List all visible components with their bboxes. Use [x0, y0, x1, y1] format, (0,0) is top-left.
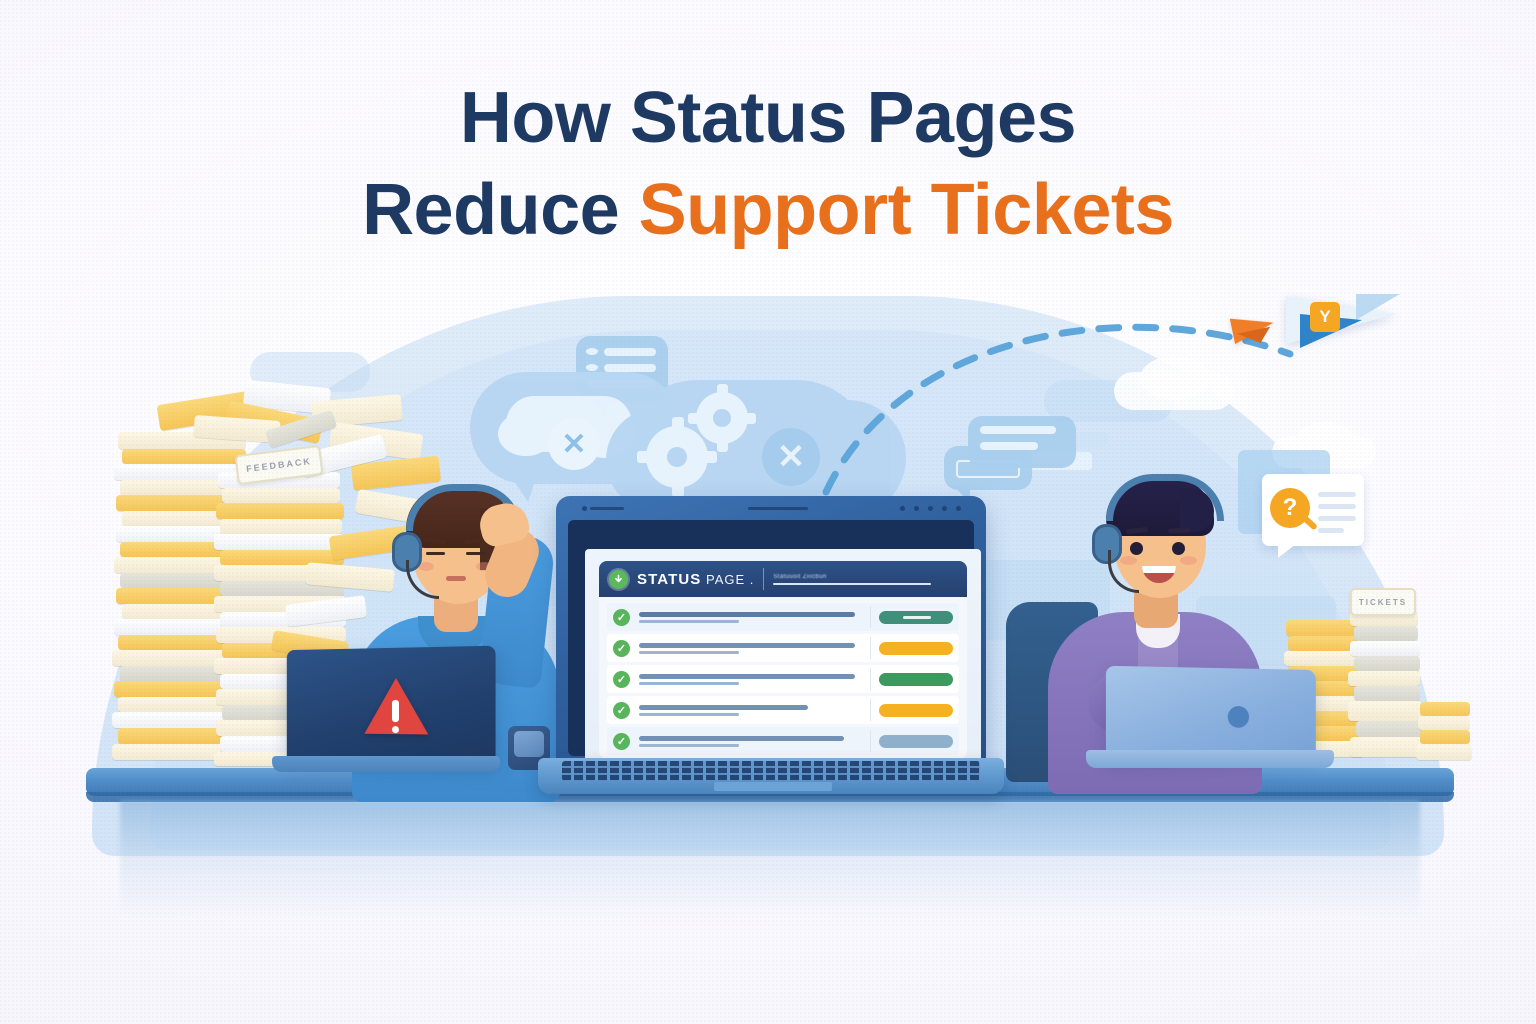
headset-mic-icon — [1108, 550, 1139, 593]
title-line-1: How Status Pages — [0, 72, 1536, 164]
title-line-2: Reduce Support Tickets — [0, 164, 1536, 256]
row-divider — [870, 730, 871, 752]
magnifier-handle — [1302, 515, 1318, 530]
gear-icon — [646, 426, 708, 488]
keyboard-rows — [562, 761, 980, 781]
status-page-rows: ✓ ✓ — [599, 597, 967, 759]
left-laptop-base — [272, 756, 500, 772]
meta-underline — [773, 583, 931, 585]
table-row[interactable]: ✓ — [607, 603, 959, 631]
laptop-screen: STATUS PAGE . Statuuoit Ziiicbun ✓ — [585, 549, 981, 775]
faq-line — [1318, 504, 1356, 509]
faq-line — [1318, 516, 1356, 521]
agent-eye-closed — [466, 552, 485, 555]
status-badge — [879, 611, 953, 624]
plane-fin — [1356, 294, 1400, 320]
row-text — [639, 736, 862, 747]
row-divider — [870, 606, 871, 628]
brand-light: PAGE . — [701, 572, 754, 587]
warning-bang — [392, 700, 399, 722]
main-laptop: STATUS PAGE . Statuuoit Ziiicbun ✓ — [556, 496, 986, 796]
x-mark-icon: ✕ — [762, 428, 820, 486]
table-row[interactable]: ✓ — [607, 727, 959, 755]
status-badge — [879, 735, 953, 748]
status-page-brand: STATUS PAGE . — [637, 571, 754, 588]
bubble-bullet — [586, 348, 598, 355]
warning-dot — [392, 726, 399, 733]
left-laptop-screen — [287, 646, 496, 763]
row-text — [639, 705, 862, 716]
status-page-header: STATUS PAGE . Statuuoit Ziiicbun — [599, 561, 967, 597]
row-text — [639, 643, 862, 654]
headset-band-icon — [1106, 474, 1224, 521]
status-badge — [879, 704, 953, 717]
row-divider — [870, 699, 871, 721]
header-divider — [763, 568, 764, 590]
agent-teeth — [1142, 566, 1176, 573]
laptop-bezel: STATUS PAGE . Statuuoit Ziiicbun ✓ — [568, 520, 974, 756]
check-icon: ✓ — [613, 671, 630, 688]
row-divider — [870, 668, 871, 690]
check-icon: ✓ — [613, 609, 630, 626]
brand-strong: STATUS — [637, 571, 701, 588]
right-laptop-screen — [1106, 666, 1316, 759]
laptop-logo-icon — [1228, 706, 1249, 728]
agent-eye-closed — [426, 552, 445, 555]
right-laptop-base — [1086, 750, 1334, 768]
laptop-base — [538, 758, 1004, 794]
status-badge — [879, 673, 953, 686]
page-title: How Status Pages Reduce Support Tickets — [0, 72, 1536, 256]
row-text — [639, 612, 862, 623]
headset-mic-icon — [406, 560, 439, 599]
bubble-bullet — [586, 364, 598, 371]
check-icon: ✓ — [613, 702, 630, 719]
laptop-lid: STATUS PAGE . Statuuoit Ziiicbun ✓ — [556, 496, 986, 764]
agent-mouth — [446, 576, 466, 581]
paper-plane-blue-icon: Y — [1286, 292, 1404, 368]
check-icon: ✓ — [613, 640, 630, 657]
gear-hole — [713, 409, 731, 427]
bubble-line — [604, 348, 656, 356]
check-icon: ✓ — [613, 733, 630, 750]
faq-line — [1318, 528, 1344, 533]
desk-device-top — [514, 731, 544, 757]
right-laptop — [1086, 668, 1334, 778]
illustration-canvas: ✕ ✕ — [0, 0, 1536, 1024]
desk-reflection — [120, 800, 1420, 920]
status-badge — [879, 642, 953, 655]
title-line-2-accent: Support Tickets — [639, 170, 1174, 250]
x-mark-icon: ✕ — [548, 418, 600, 470]
agent-blush — [1180, 556, 1197, 565]
row-text — [639, 674, 862, 685]
table-row[interactable]: ✓ — [607, 665, 959, 693]
status-page-meta: Statuuoit Ziiicbun — [773, 574, 957, 585]
meta-text: Statuuoit Ziiicbun — [773, 574, 957, 580]
table-row[interactable]: ✓ — [607, 696, 959, 724]
bubble-line — [604, 364, 656, 372]
download-icon — [609, 570, 628, 589]
plane-badge-icon: Y — [1310, 302, 1340, 332]
gear-hole — [667, 447, 687, 467]
laptop-trackpad[interactable] — [714, 782, 832, 791]
agent-eye — [1172, 542, 1185, 555]
table-row[interactable]: ✓ — [607, 634, 959, 662]
ticket-label: TICKETS — [1350, 588, 1416, 616]
gear-icon — [696, 392, 748, 444]
faq-line — [1318, 492, 1356, 497]
cloud-icon — [498, 412, 554, 456]
title-line-2-prefix: Reduce — [362, 170, 639, 250]
row-divider — [870, 637, 871, 659]
left-laptop — [272, 648, 500, 776]
